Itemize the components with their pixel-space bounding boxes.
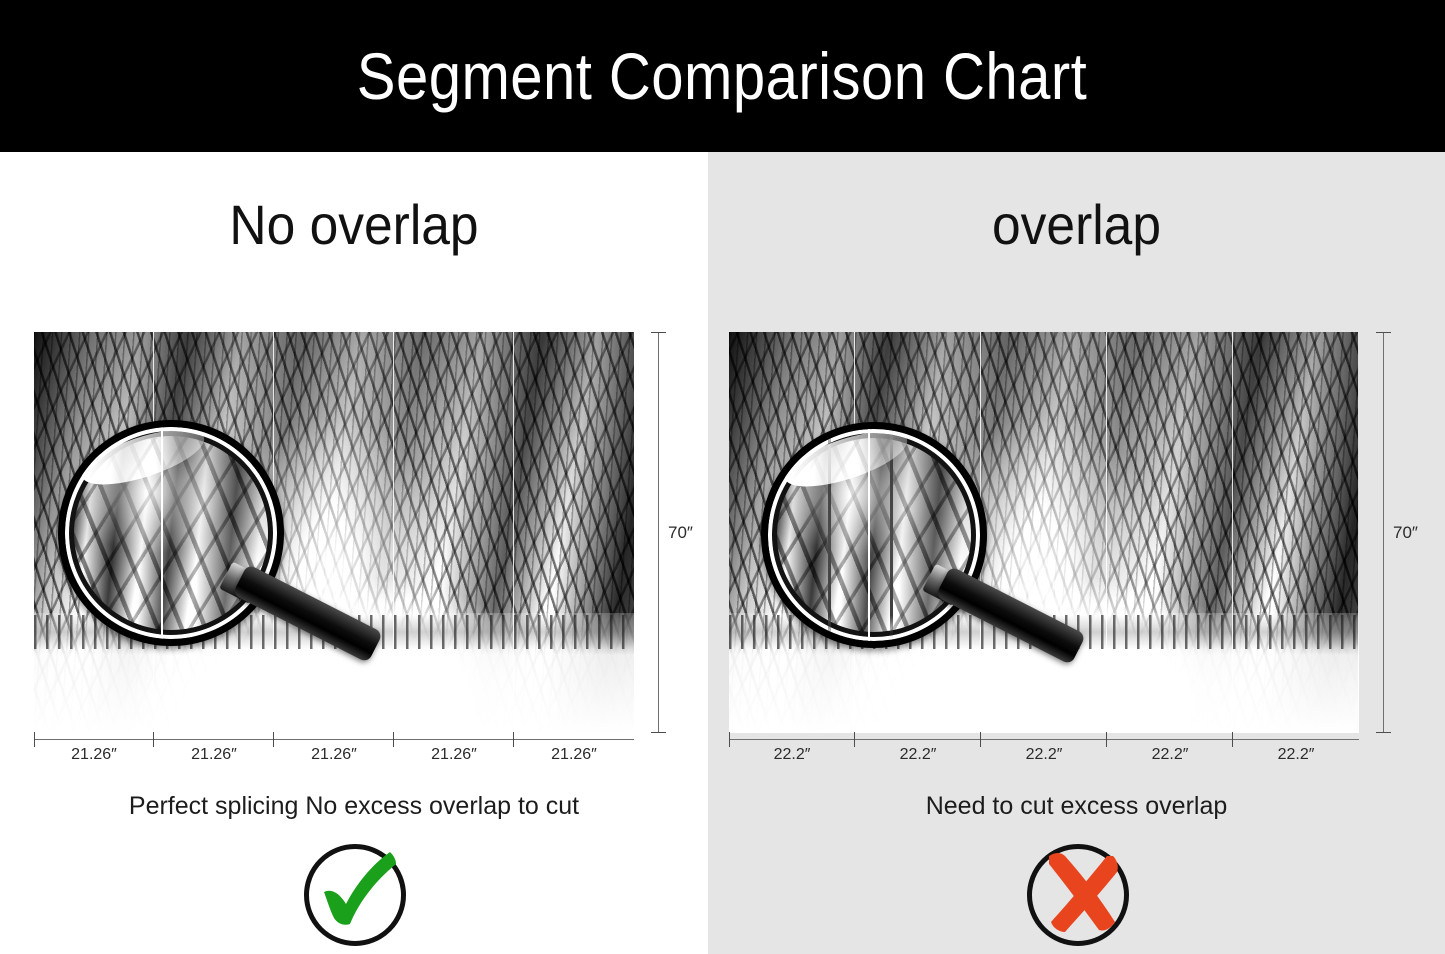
width-dimension-no-overlap: 21.26″ 21.26″ 21.26″ 21.26″ 21.26″ <box>34 739 634 773</box>
height-dimension-label: 70″ <box>1393 523 1418 543</box>
segment-width-label: 22.2″ <box>1107 746 1233 764</box>
mural-photo-no-overlap <box>34 332 634 733</box>
height-dimension-no-overlap: 70″ <box>650 332 710 733</box>
segment-width-label: 21.26″ <box>154 746 274 764</box>
panel-heading-no-overlap: No overlap <box>28 192 679 257</box>
segment-width-label: 21.26″ <box>394 746 514 764</box>
segment-width-label: 21.26″ <box>274 746 394 764</box>
width-dimension-ticks <box>729 732 1359 747</box>
height-dimension-line <box>658 332 659 733</box>
page-title: Segment Comparison Chart <box>357 38 1087 114</box>
rejected-cross-icon <box>1023 840 1131 948</box>
park-fence <box>34 615 634 649</box>
segment-width-label: 21.26″ <box>34 746 154 764</box>
header-bar: Segment Comparison Chart <box>0 0 1445 152</box>
panel-no-overlap: No overlap <box>0 152 708 954</box>
check-mark-glyph <box>308 842 408 942</box>
segment-width-label: 22.2″ <box>981 746 1107 764</box>
figure-no-overlap: 70″ 21.26″ 21.26″ 21.26″ 21.26″ 21.26″ <box>34 332 634 773</box>
panel-heading-overlap: overlap <box>737 192 1415 257</box>
caption-no-overlap: Perfect splicing No excess overlap to cu… <box>0 792 708 821</box>
park-fence <box>729 615 1359 649</box>
height-dimension-label: 70″ <box>668 523 693 543</box>
panel-overlap: overlap <box>708 152 1445 954</box>
segment-width-label: 22.2″ <box>855 746 981 764</box>
segment-width-label: 21.26″ <box>514 746 634 764</box>
comparison-panels: No overlap <box>0 152 1445 954</box>
height-dimension-overlap: 70″ <box>1375 332 1435 733</box>
figure-overlap: 70″ 22.2″ 22.2″ 22.2″ 22.2″ 22.2″ <box>729 332 1359 773</box>
width-dimension-labels: 21.26″ 21.26″ 21.26″ 21.26″ 21.26″ <box>34 746 634 764</box>
width-dimension-labels: 22.2″ 22.2″ 22.2″ 22.2″ 22.2″ <box>729 746 1359 764</box>
height-dimension-line <box>1383 332 1384 733</box>
approved-check-icon <box>300 840 408 948</box>
segment-width-label: 22.2″ <box>729 746 855 764</box>
width-dimension-ticks <box>34 732 634 747</box>
mural-photo-overlap <box>729 332 1359 733</box>
caption-overlap: Need to cut excess overlap <box>708 792 1445 821</box>
segment-width-label: 22.2″ <box>1233 746 1359 764</box>
width-dimension-overlap: 22.2″ 22.2″ 22.2″ 22.2″ 22.2″ <box>729 739 1359 773</box>
cross-mark-glyph <box>1031 842 1131 942</box>
